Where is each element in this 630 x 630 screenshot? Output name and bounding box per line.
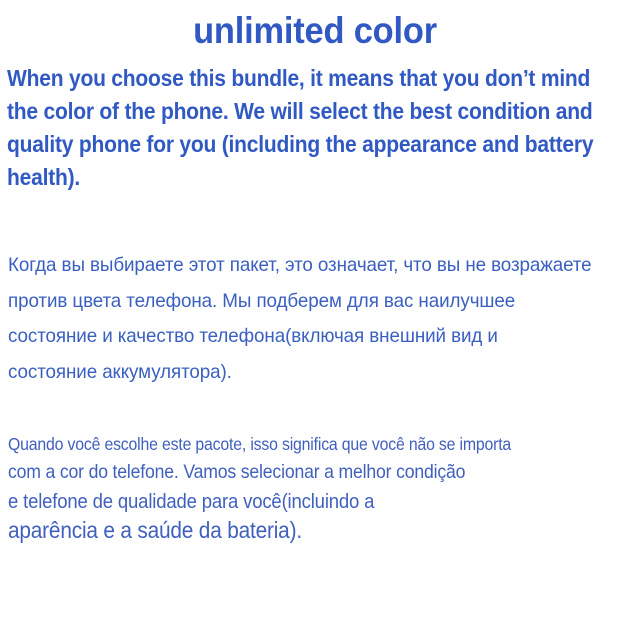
english-line: the color of the phone. We will select t… xyxy=(7,95,565,128)
russian-line: состояние и качество телефона(включая вн… xyxy=(8,319,608,355)
portuguese-line: e telefone de qualidade para você(inclui… xyxy=(8,487,571,516)
portuguese-line: aparência e a saúde da bateria). xyxy=(8,516,571,545)
english-description-block: When you choose this bundle, it means th… xyxy=(7,62,630,194)
russian-line: против цвета телефона. Мы подберем для в… xyxy=(8,284,608,320)
english-line: quality phone for you (including the app… xyxy=(7,128,565,161)
russian-description-block: Когда вы выбираете этот пакет, это означ… xyxy=(8,248,630,390)
english-line: health). xyxy=(7,161,565,194)
russian-line: состояние аккумулятора). xyxy=(8,355,608,391)
page-title: unlimited color xyxy=(22,8,608,54)
product-description-banner: unlimited color When you choose this bun… xyxy=(0,0,630,630)
portuguese-line: Quando você escolhe este pacote, isso si… xyxy=(8,430,571,458)
russian-line: Когда вы выбираете этот пакет, это означ… xyxy=(8,248,608,284)
portuguese-line: com a cor do telefone. Vamos selecionar … xyxy=(8,458,571,487)
portuguese-description-block: Quando você escolhe este pacote, isso si… xyxy=(8,430,630,545)
english-line: When you choose this bundle, it means th… xyxy=(7,62,565,95)
